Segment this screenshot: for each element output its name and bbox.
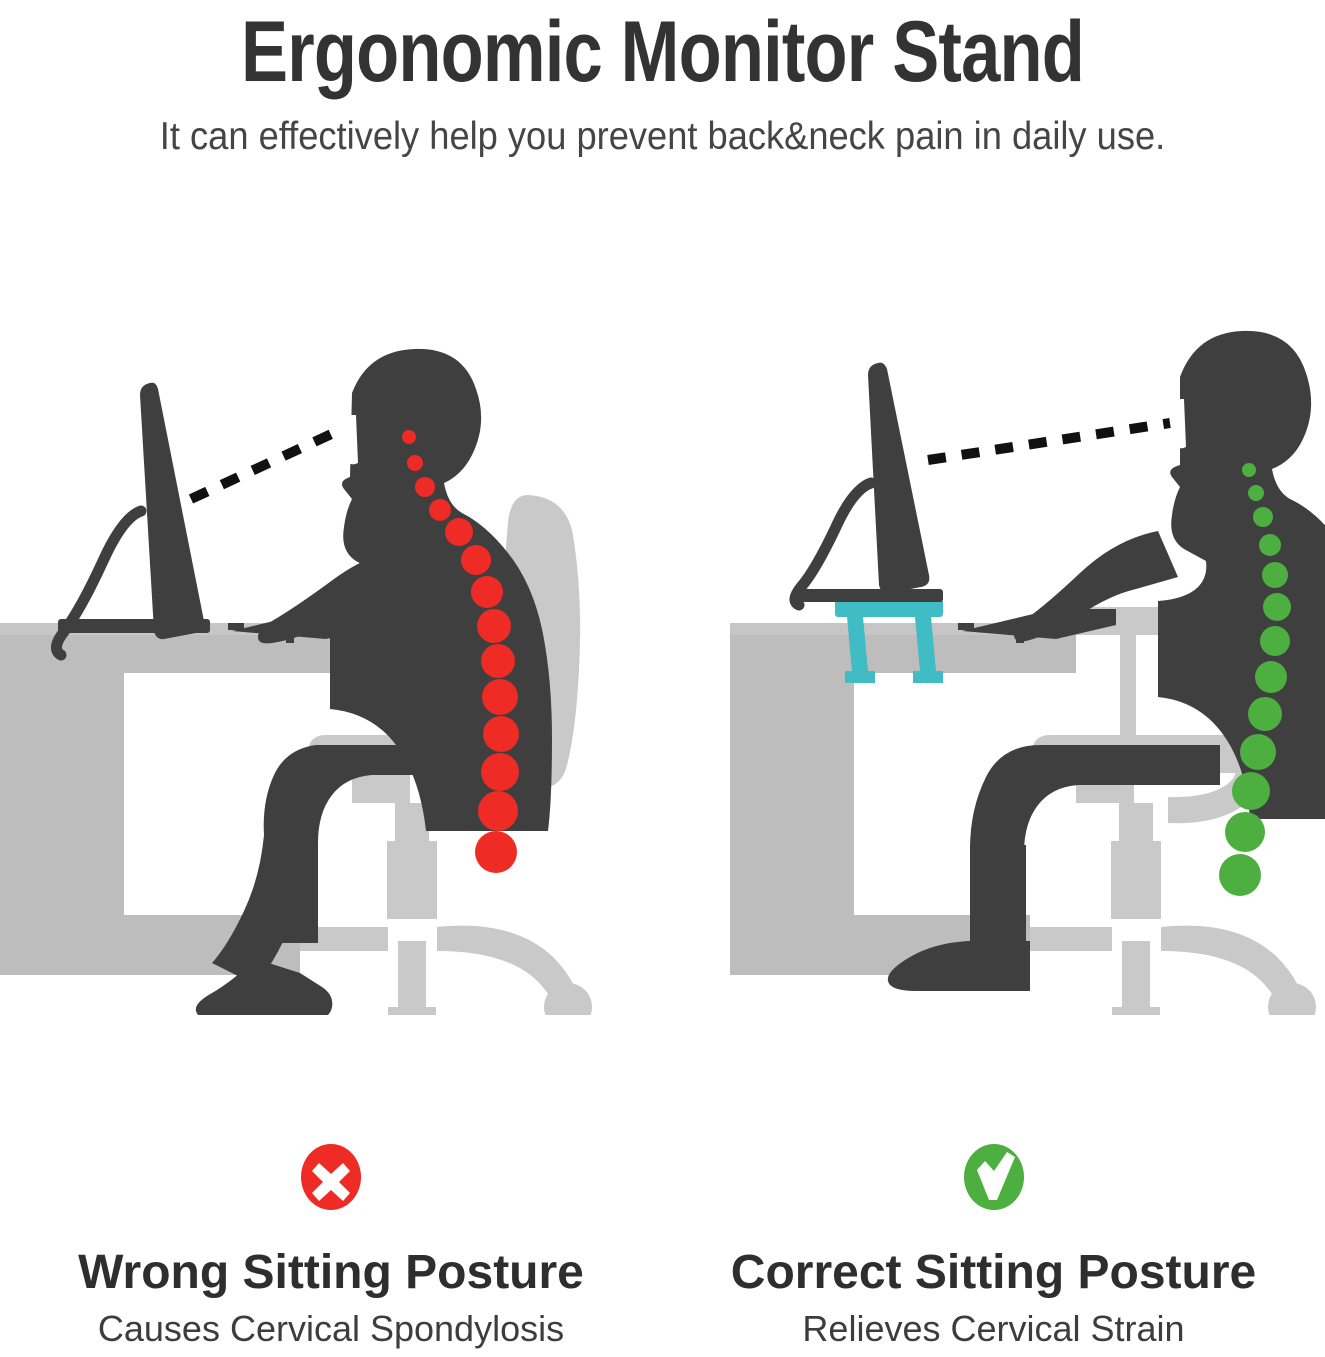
page-subtitle: It can effectively help you prevent back… [46, 100, 1278, 160]
spine-dot [1242, 463, 1256, 477]
sight-line-right [928, 423, 1170, 460]
spine-dot [407, 455, 423, 471]
spine-dot [471, 576, 503, 608]
chair-cylinder-lower [387, 841, 437, 919]
chair-column-lower [1122, 941, 1150, 1007]
chair-base-star [288, 926, 583, 1015]
header: Ergonomic Monitor Stand It can effective… [0, 0, 1325, 160]
spine-dot [481, 644, 515, 678]
chair-caster-left [1112, 1007, 1160, 1015]
caption-row: Wrong Sitting Posture Causes Cervical Sp… [0, 1125, 1325, 1351]
caption-correct-posture: Correct Sitting Posture Relieves Cervica… [662, 1125, 1325, 1351]
spine-dot [1248, 697, 1282, 731]
infographic-page: Ergonomic Monitor Stand It can effective… [0, 0, 1325, 1357]
spine-dot [478, 791, 518, 831]
keyboard-front-edge [958, 623, 974, 630]
sight-line-left [191, 430, 340, 499]
spine-dot [482, 679, 518, 715]
spine-dot [1260, 626, 1290, 656]
caption-wrong-posture: Wrong Sitting Posture Causes Cervical Sp… [0, 1125, 662, 1351]
spine-dot [429, 499, 451, 521]
chair-cylinder-lower [1111, 841, 1161, 919]
keyboard-front-edge [228, 623, 244, 630]
monitor-screen [140, 383, 204, 639]
chair-cylinder-upper [1119, 803, 1153, 841]
posture-comparison-illustration [0, 215, 1325, 1015]
red-cross-circle-icon [300, 1143, 362, 1211]
chair-caster-left [388, 1007, 436, 1015]
spine-dot [1219, 854, 1261, 896]
monitor-stand-arm [795, 483, 871, 605]
correct-posture-subtitle: Relieves Cervical Strain [662, 1301, 1325, 1351]
spine-dot [1253, 507, 1273, 527]
spine-dot [481, 753, 519, 791]
monitor-base [795, 589, 943, 602]
person-face-profile [338, 415, 358, 464]
chair-armrest-post [1120, 627, 1136, 739]
spine-dot [1240, 734, 1276, 770]
green-check-circle-icon [963, 1143, 1025, 1211]
spine-dot [477, 609, 511, 643]
left-panel-scene [0, 349, 592, 1015]
spine-dot [1225, 812, 1265, 852]
right-panel-scene [730, 331, 1325, 1015]
spine-dot [483, 716, 519, 752]
spine-dot [1255, 661, 1287, 693]
correct-posture-title: Correct Sitting Posture [662, 1211, 1325, 1301]
illustration-area [0, 215, 1325, 1015]
wrong-posture-title: Wrong Sitting Posture [0, 1211, 662, 1301]
spine-dot [445, 518, 473, 546]
spine-dot [415, 477, 435, 497]
spine-dot [1259, 534, 1281, 556]
monitor-screen [868, 363, 929, 593]
chair-base-star [1012, 926, 1307, 1015]
spine-dot [1248, 485, 1264, 501]
page-title: Ergonomic Monitor Stand [119, 0, 1206, 100]
spine-dot [475, 831, 517, 873]
monitor-base [58, 619, 210, 633]
wrong-posture-subtitle: Causes Cervical Spondylosis [0, 1301, 662, 1351]
spine-dot [1263, 593, 1291, 621]
monitor-left [56, 383, 210, 655]
monitor-right [795, 363, 943, 605]
spine-dot [1262, 562, 1288, 588]
chair-column-lower [398, 941, 426, 1007]
spine-dot [1232, 772, 1270, 810]
spine-dot [461, 545, 491, 575]
spine-dot [402, 430, 416, 444]
